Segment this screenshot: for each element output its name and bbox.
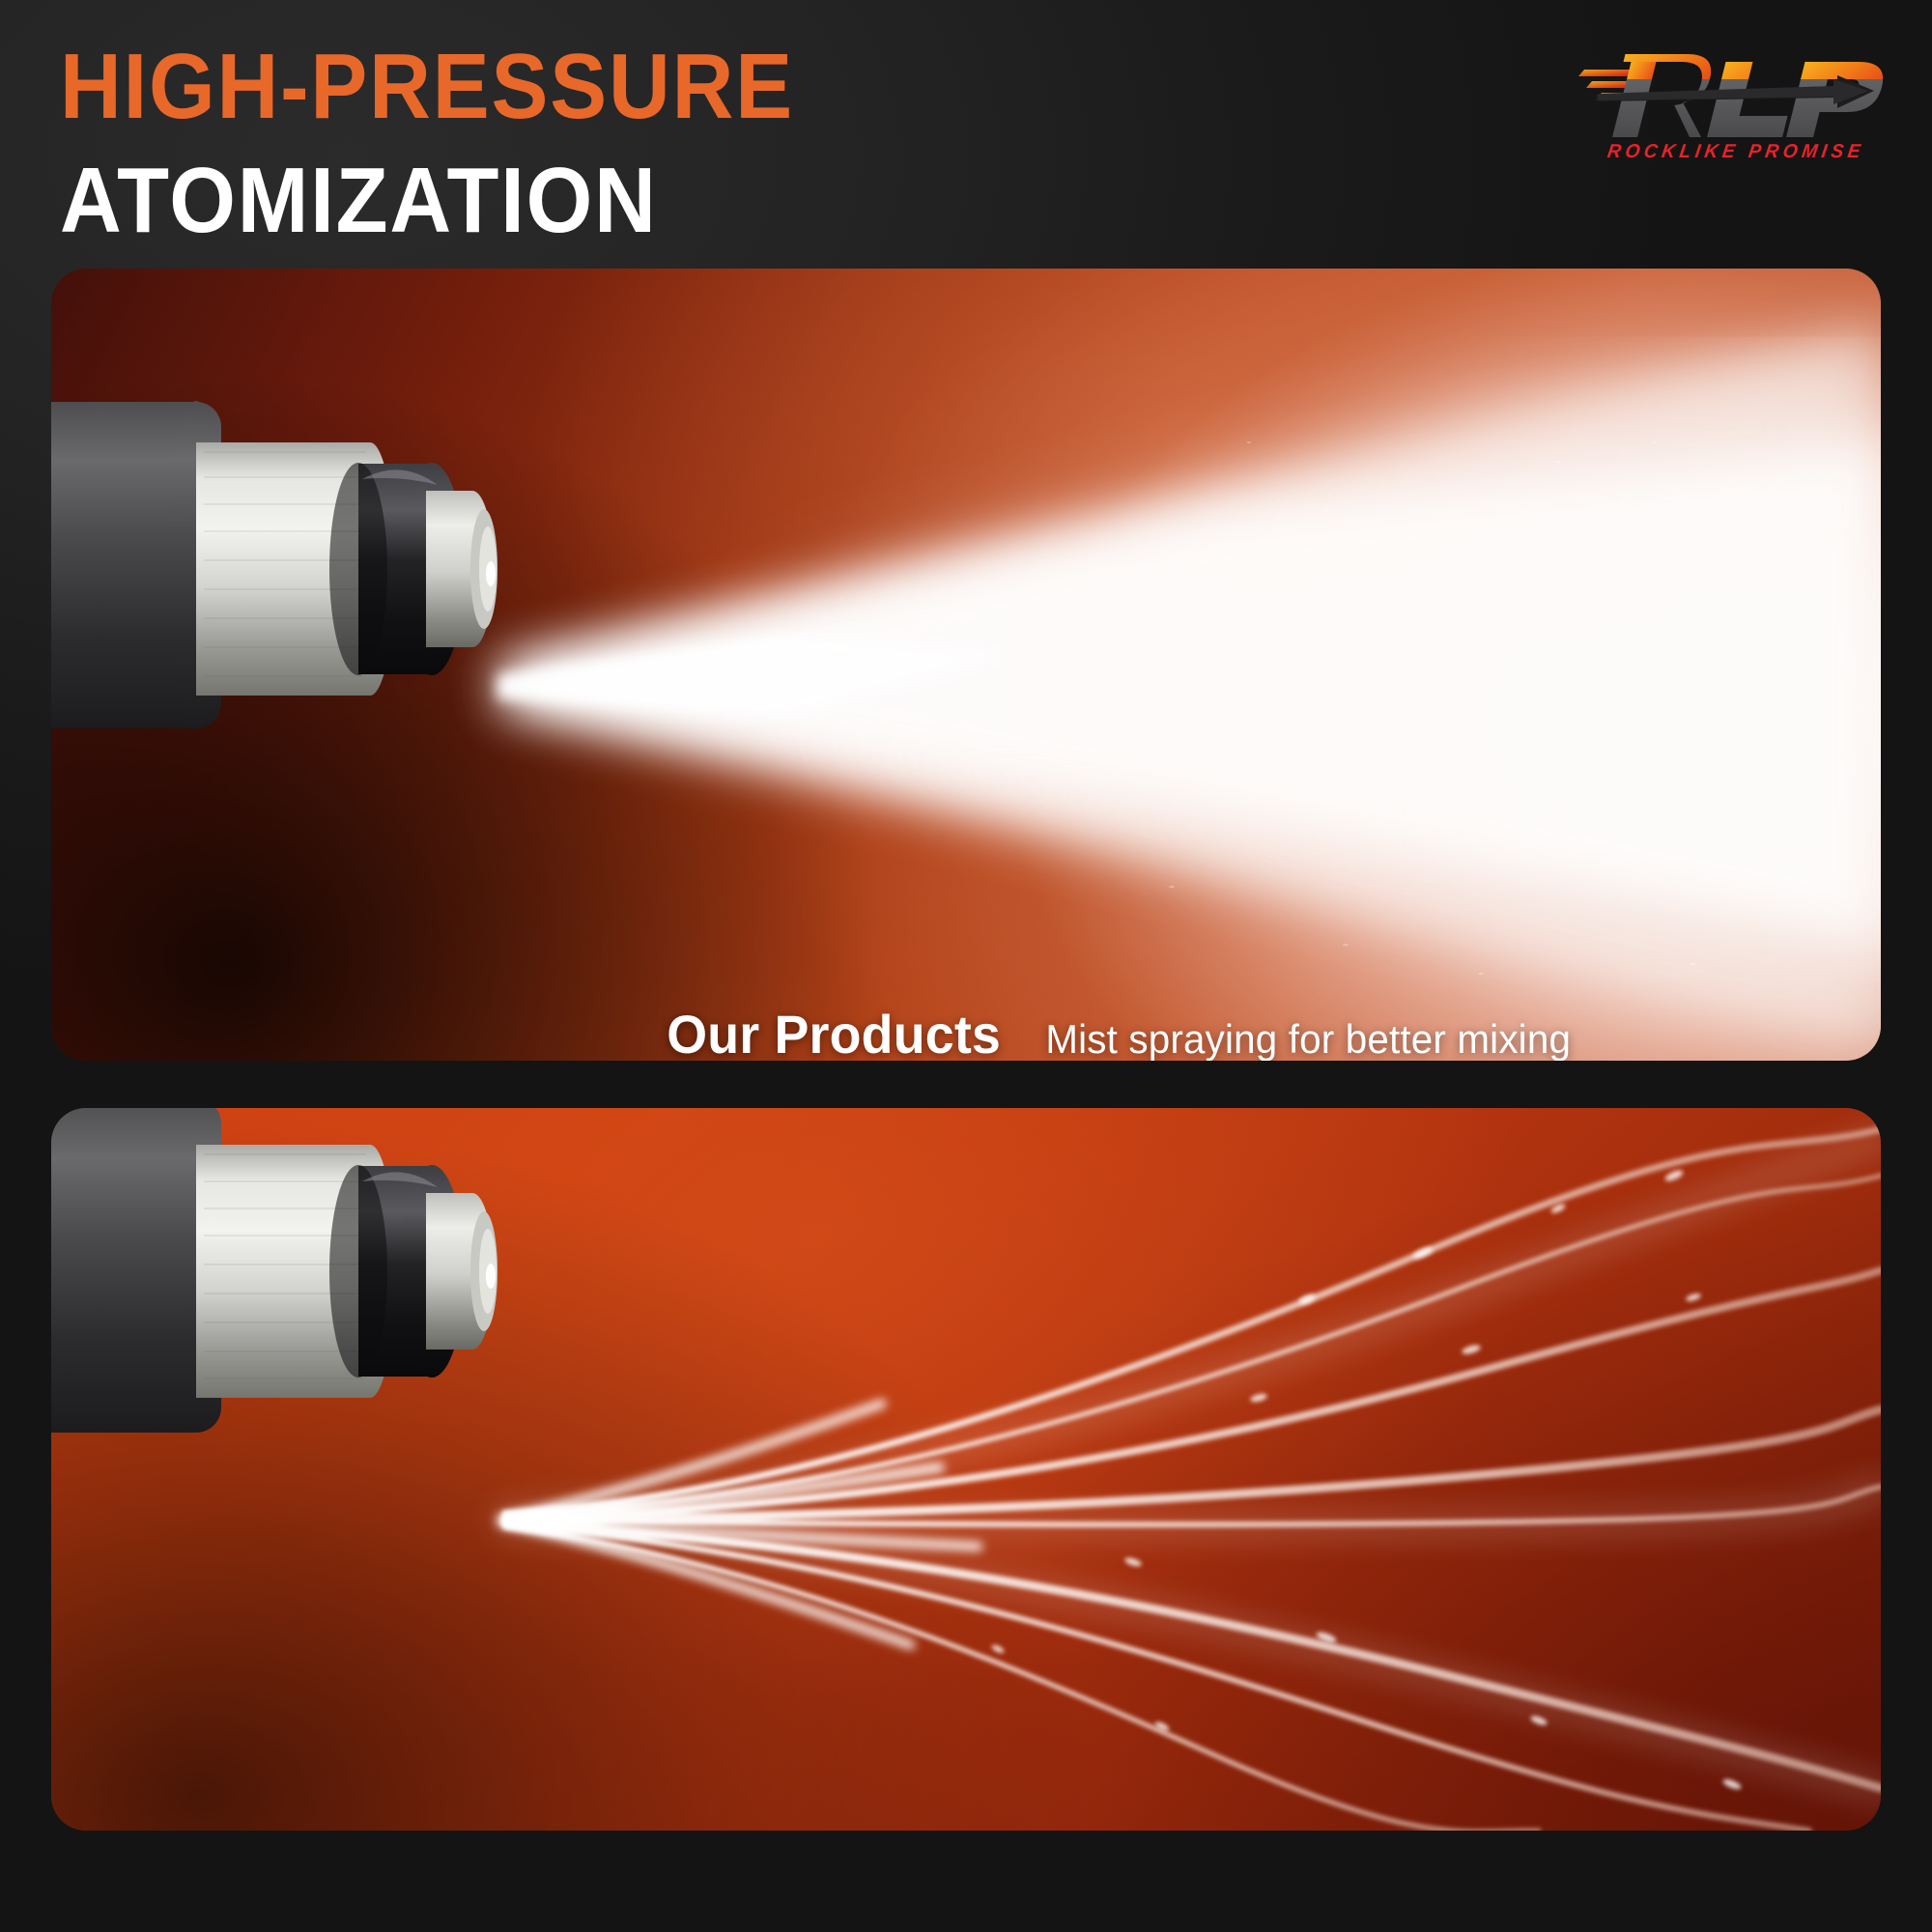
- title-line-accent: HIGH-PRESSURE: [60, 37, 794, 137]
- logo-tagline: ROCKLIKE PROMISE: [1581, 141, 1889, 163]
- caption-strong-label: Our Products: [667, 1003, 1001, 1061]
- logo-mark-icon: [1578, 41, 1897, 147]
- others-panel: Others Bad injectors use more fuel: [51, 1108, 1881, 1831]
- fuel-injector-nozzle: [51, 384, 592, 790]
- header: HIGH-PRESSURE ATOMIZATION: [0, 0, 1932, 269]
- our-products-panel: Our Products Mist spraying for better mi…: [51, 269, 1881, 1061]
- our-products-caption: Our Products Mist spraying for better mi…: [660, 1003, 1582, 1061]
- title-line-plain: ATOMIZATION: [60, 151, 794, 251]
- page-title: HIGH-PRESSURE ATOMIZATION: [60, 37, 858, 251]
- caption-light-label: Mist spraying for better mixing: [1046, 1016, 1572, 1061]
- brand-logo: ROCKLIKE PROMISE: [1578, 41, 1897, 176]
- fuel-injector-nozzle: [51, 1108, 592, 1494]
